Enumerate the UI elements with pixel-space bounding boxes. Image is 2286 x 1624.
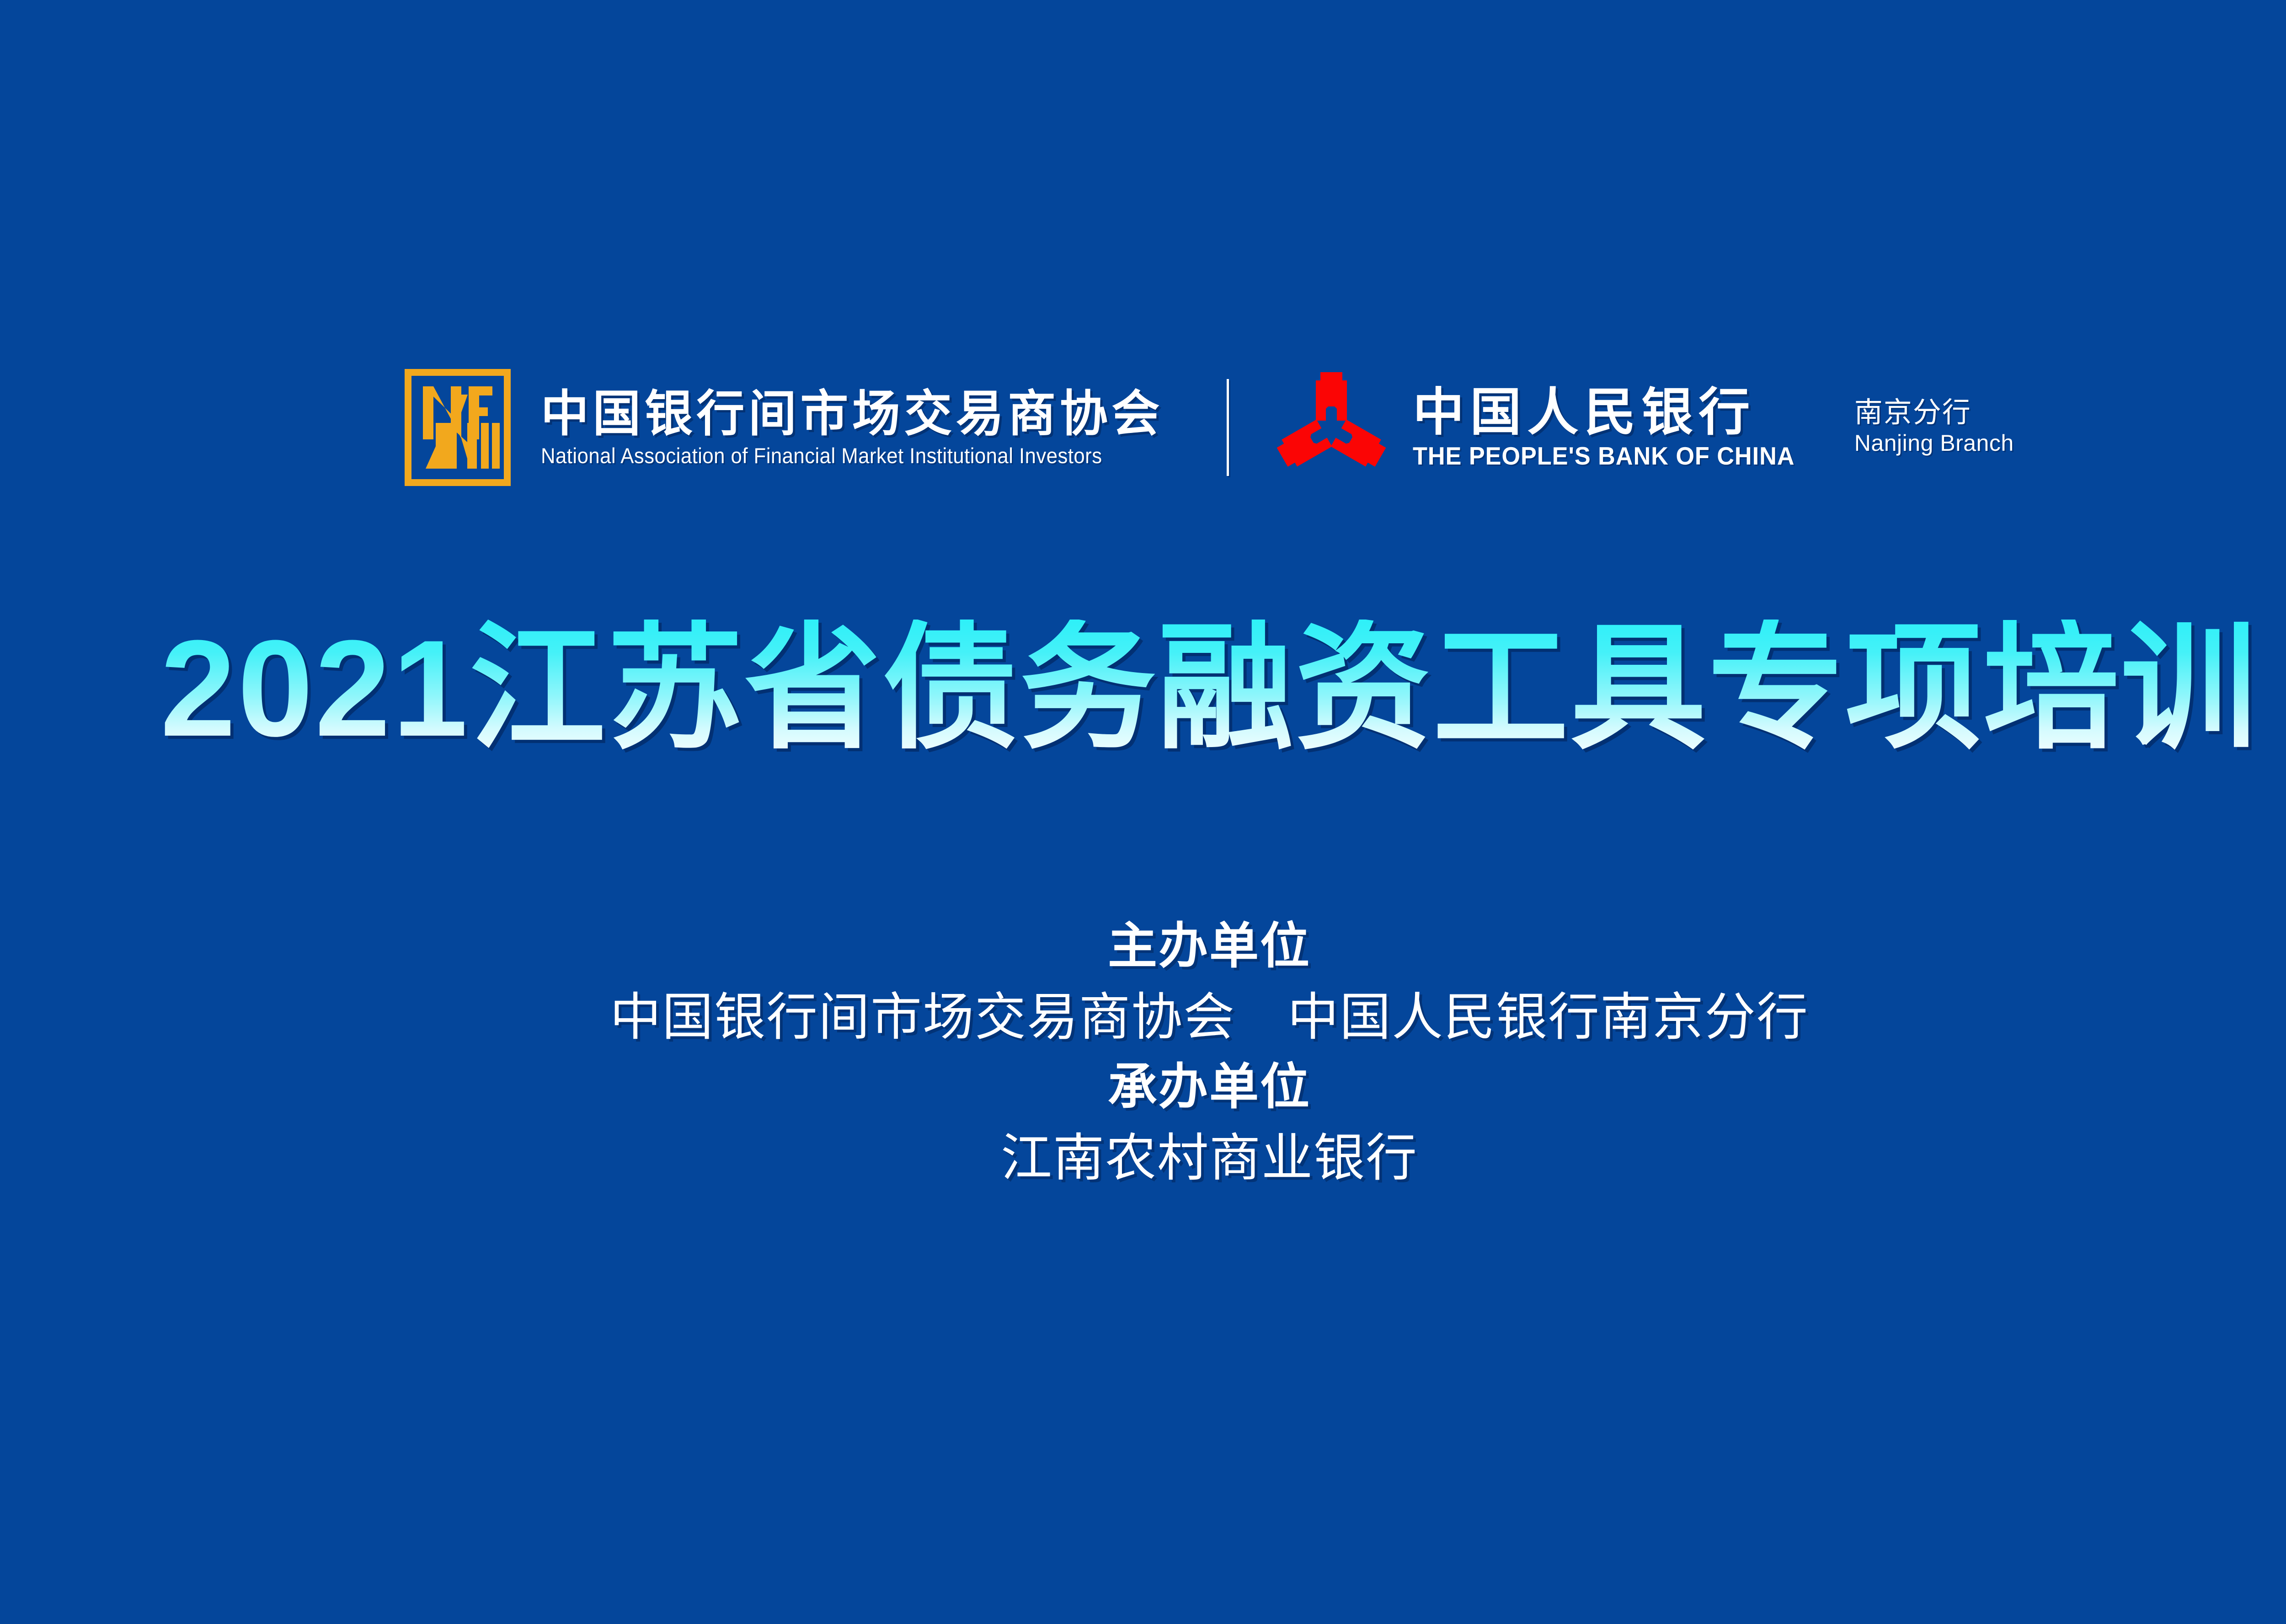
nafmii-logo-group: 中国银行间市场交易商协会 National Association of Fin… — [405, 369, 1183, 486]
host-names: 中国银行间市场交易商协会 中国人民银行南京分行 — [0, 987, 2286, 1048]
host-label: 主办单位 — [0, 918, 2286, 974]
presentation-slide: 中国银行间市场交易商协会 National Association of Fin… — [0, 0, 2286, 1624]
pboc-name-cn: 中国人民银行 — [1413, 387, 1815, 438]
pboc-logo-group: 中国人民银行 THE PEOPLE'S BANK OF CHINA 南京分行 N… — [1273, 370, 2014, 485]
pboc-branch-en: Nanjing Branch — [1854, 432, 2014, 454]
nafmii-name-en: National Association of Financial Market… — [541, 445, 1138, 466]
nafmii-logo-icon — [405, 369, 511, 486]
organizer-names: 江南农村商业银行 — [0, 1127, 2286, 1189]
pboc-name-en: THE PEOPLE'S BANK OF CHINA — [1413, 443, 1795, 469]
logo-divider — [1227, 379, 1229, 476]
logo-bar: 中国银行间市场交易商协会 National Association of Fin… — [0, 352, 2286, 503]
pboc-branch-cn: 南京分行 — [1854, 399, 2014, 427]
organizer-block: 主办单位 中国银行间市场交易商协会 中国人民银行南京分行 承办单位 江南农村商业… — [0, 908, 2286, 1189]
nafmii-wordmark: 中国银行间市场交易商协会 National Association of Fin… — [541, 389, 1183, 466]
pboc-branch-wordmark: 南京分行 Nanjing Branch — [1854, 399, 2014, 456]
nafmii-name-cn: 中国银行间市场交易商协会 — [541, 389, 1164, 438]
pboc-wordmark: 中国人民银行 THE PEOPLE'S BANK OF CHINA — [1413, 387, 1815, 469]
pboc-emblem-icon — [1273, 370, 1390, 485]
organizer-label: 承办单位 — [0, 1058, 2286, 1115]
page-title: 2021江苏省债务融资工具专项培训 — [12, 620, 2286, 757]
